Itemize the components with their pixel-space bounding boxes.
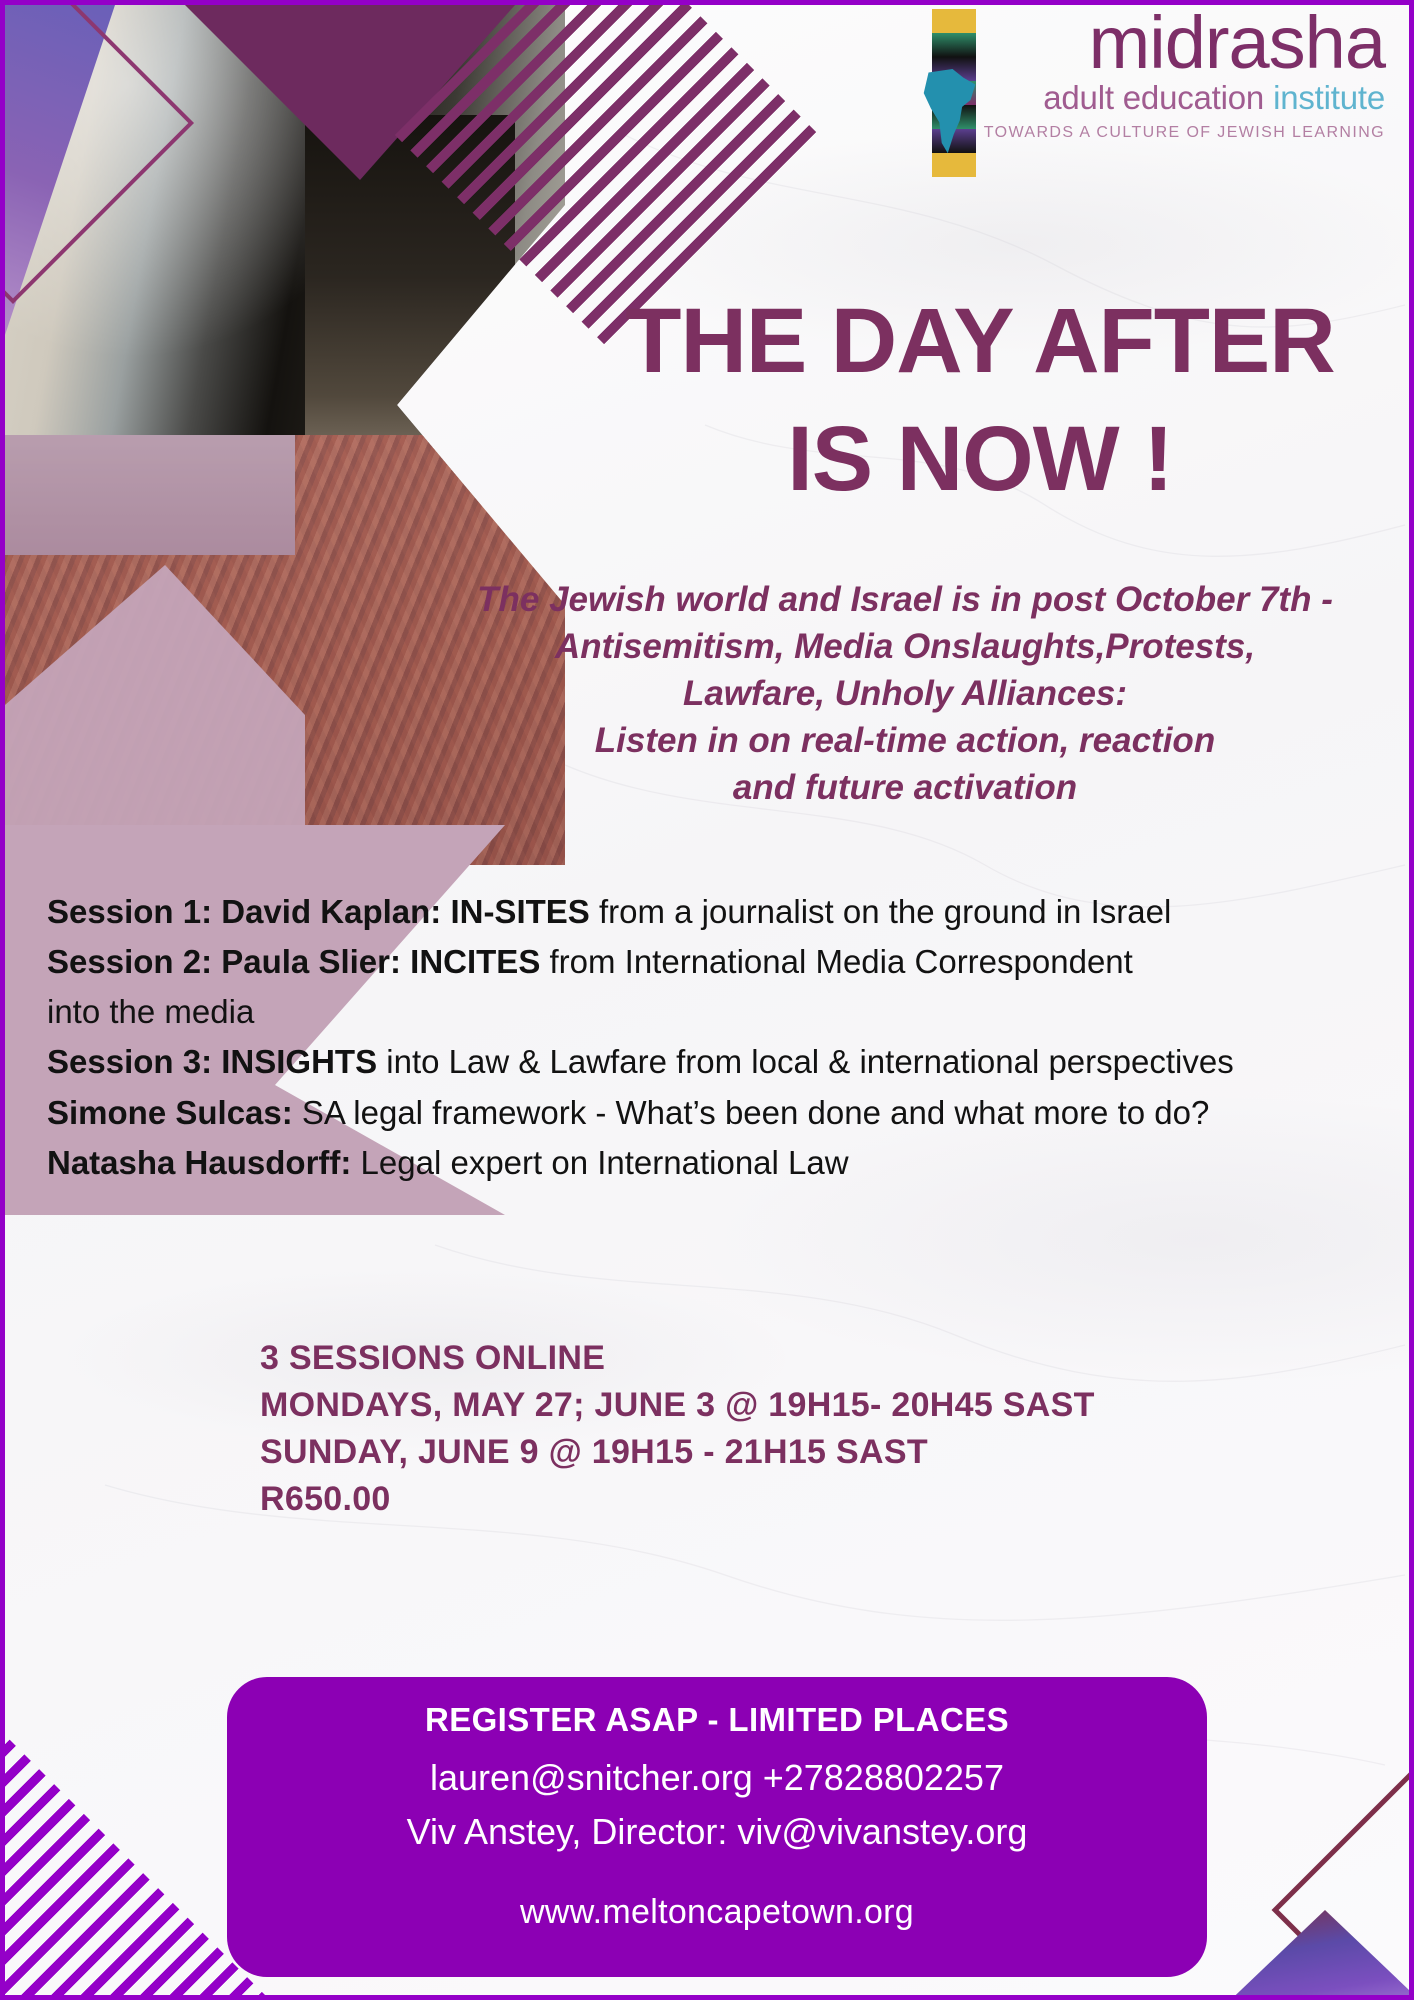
subtitle-block: The Jewish world and Israel is in post O… [405,577,1405,811]
session-line-bold: Session 2: Paula Slier: INCITES [47,943,540,980]
sessions-list: Session 1: David Kaplan: IN-SITES from a… [47,887,1387,1188]
kente-band [932,9,976,33]
subtitle-line: Antisemitism, Media Onslaughts,Protests, [405,624,1405,671]
detail-price: R650.00 [260,1476,1095,1523]
contact-director[interactable]: Viv Anstey, Director: viv@vivanstey.org [227,1805,1207,1859]
logo-name: midrasha [1089,11,1385,75]
detail-sessions-count: 3 SESSIONS ONLINE [260,1335,1095,1382]
session-line: Session 1: David Kaplan: IN-SITES from a… [47,887,1387,937]
detail-sunday: SUNDAY, JUNE 9 @ 19H15 - 21H15 SAST [260,1429,1095,1476]
session-line: Session 2: Paula Slier: INCITES from Int… [47,937,1387,987]
contact-email-phone[interactable]: lauren@snitcher.org +27828802257 [227,1751,1207,1805]
midrasha-logo[interactable]: midrasha adult education institute TOWAR… [932,9,1385,177]
subtitle-line: Lawfare, Unholy Alliances: [405,671,1405,718]
kente-band [932,153,976,177]
session-line: Natasha Hausdorff: Legal expert on Inter… [47,1138,1387,1188]
page-title: THE DAY AFTER IS NOW ! [565,283,1395,519]
session-line-rest: Legal expert on International Law [351,1144,848,1181]
subtitle-line: and future activation [405,765,1405,812]
session-line: into the media [47,987,1387,1037]
title-line-2: IS NOW ! [565,401,1395,519]
logo-tagline: TOWARDS A CULTURE OF JEWISH LEARNING [984,124,1385,142]
register-contact-card[interactable]: REGISTER ASAP - LIMITED PLACES lauren@sn… [227,1677,1207,1977]
session-line-rest: into Law & Lawfare from local & internat… [377,1043,1234,1080]
logo-subtitle-primary: adult education [1043,79,1264,116]
session-line: Simone Sulcas: SA legal framework - What… [47,1088,1387,1138]
kente-band [932,33,976,57]
session-line-bold: Session 1: David Kaplan: IN-SITES [47,893,590,930]
schedule-details: 3 SESSIONS ONLINE MONDAYS, MAY 27; JUNE … [260,1335,1095,1523]
poster: midrasha adult education institute TOWAR… [0,0,1414,2000]
subtitle-line: The Jewish world and Israel is in post O… [405,577,1405,624]
title-line-1: THE DAY AFTER [565,283,1395,401]
logo-subtitle-secondary: institute [1273,79,1385,116]
kente-pattern-icon [932,9,976,177]
session-line: Session 3: INSIGHTS into Law & Lawfare f… [47,1037,1387,1087]
detail-mondays: MONDAYS, MAY 27; JUNE 3 @ 19H15- 20H45 S… [260,1382,1095,1429]
session-line-bold: Session 3: INSIGHTS [47,1043,377,1080]
website-link[interactable]: www.meltoncapetown.org [227,1893,1207,1932]
logo-subtitle: adult education institute [1043,81,1385,116]
subtitle-line: Listen in on real-time action, reaction [405,718,1405,765]
session-line-rest: from a journalist on the ground in Israe… [590,893,1171,930]
session-line-rest: SA legal framework - What’s been done an… [293,1094,1210,1131]
logo-wordmark: midrasha adult education institute TOWAR… [984,9,1385,142]
session-line-bold: Simone Sulcas: [47,1094,293,1131]
session-line-rest: into the media [47,993,254,1030]
register-heading: REGISTER ASAP - LIMITED PLACES [227,1701,1207,1739]
session-line-bold: Natasha Hausdorff: [47,1144,351,1181]
session-line-rest: from International Media Correspondent [540,943,1133,980]
